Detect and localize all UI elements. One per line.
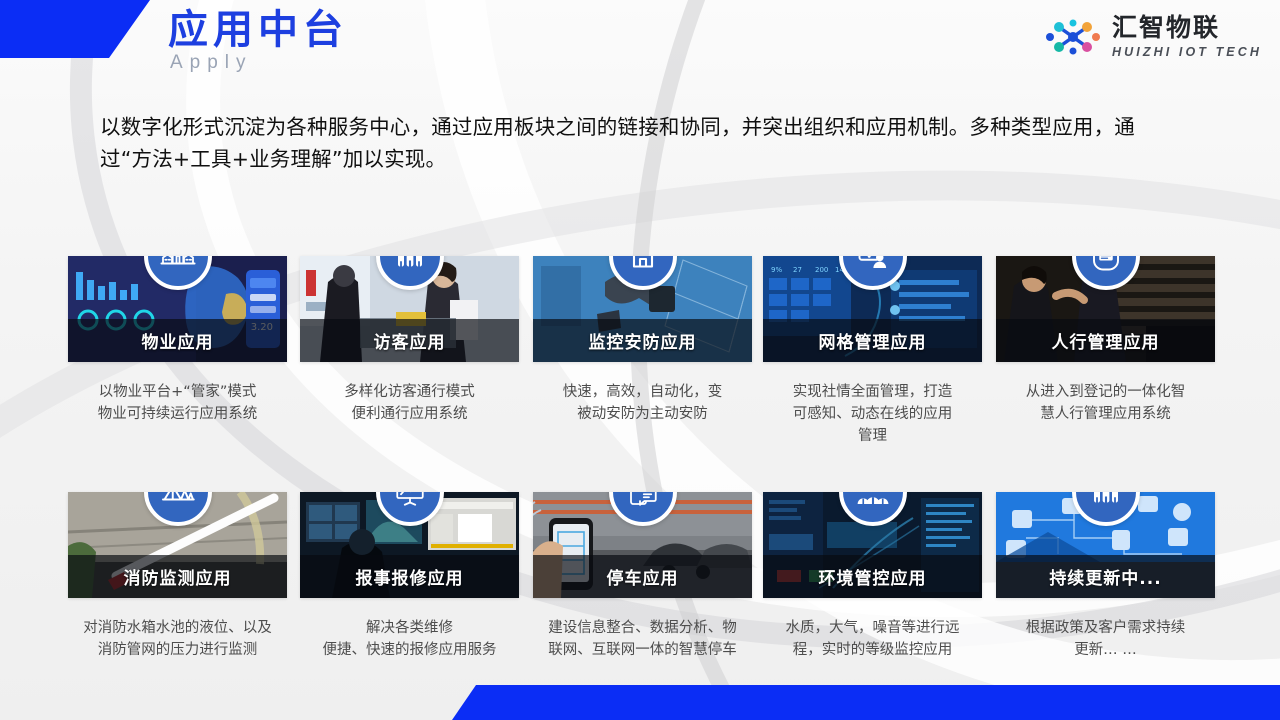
application-card[interactable]: 停车应用 建设信息整合、数据分析、物 联网、互联网一体的智慧停车 <box>533 492 752 661</box>
card-label: 持续更新中... <box>996 564 1215 589</box>
application-card[interactable]: 3.20 物业应用 以物业平台+“管家”模式 物业可持续运行应用系统 <box>68 256 287 425</box>
application-card[interactable]: 持续更新中... 根据政策及客户需求持续 更新… … <box>996 492 1215 661</box>
card-caption: 实现社情全面管理，打造 可感知、动态在线的应用 管理 <box>763 381 982 447</box>
card-caption: 快速，高效，自动化，变 被动安防为主动安防 <box>533 381 752 425</box>
card-label: 访客应用 <box>300 328 519 353</box>
card-thumbnail[interactable]: 3.20 物业应用 <box>68 256 287 362</box>
card-label: 网格管理应用 <box>763 328 982 353</box>
card-label: 人行管理应用 <box>996 328 1215 353</box>
card-caption: 从进入到登记的一体化智 慧人行管理应用系统 <box>996 381 1215 425</box>
application-card[interactable]: 环境管控应用 水质，大气，噪音等进行远 程，实时的等级监控应用 <box>763 492 982 661</box>
application-card[interactable]: 访客应用 多样化访客通行模式 便利通行应用系统 <box>300 256 519 425</box>
card-caption: 以物业平台+“管家”模式 物业可持续运行应用系统 <box>68 381 287 425</box>
card-caption: 根据政策及客户需求持续 更新… … <box>996 617 1215 661</box>
svg-text:200: 200 <box>815 266 828 274</box>
card-thumbnail[interactable]: 人行管理应用 <box>996 256 1215 362</box>
application-card[interactable]: 监控安防应用 快速，高效，自动化，变 被动安防为主动安防 <box>533 256 752 425</box>
application-card[interactable]: 人行管理应用 从进入到登记的一体化智 慧人行管理应用系统 <box>996 256 1215 425</box>
slide-canvas: 应用中台 Apply <box>0 0 1280 720</box>
card-label: 停车应用 <box>533 564 752 589</box>
card-caption: 水质，大气，噪音等进行远 程，实时的等级监控应用 <box>763 617 982 661</box>
card-caption: 解决各类维修 便捷、快速的报修应用服务 <box>300 617 519 661</box>
card-label: 报事报修应用 <box>300 564 519 589</box>
card-thumbnail[interactable]: 访客应用 <box>300 256 519 362</box>
card-caption: 建设信息整合、数据分析、物 联网、互联网一体的智慧停车 <box>533 617 752 661</box>
svg-text:27: 27 <box>793 266 802 274</box>
application-card-grid: 3.20 物业应用 以物业平台+“管家”模式 物业可持续运行应用系统 <box>0 0 1280 720</box>
application-card[interactable]: 报事报修应用 解决各类维修 便捷、快速的报修应用服务 <box>300 492 519 661</box>
card-label: 物业应用 <box>68 328 287 353</box>
card-thumbnail[interactable]: 报事报修应用 <box>300 492 519 598</box>
card-thumbnail[interactable]: 停车应用 <box>533 492 752 598</box>
card-thumbnail[interactable]: 监控安防应用 <box>533 256 752 362</box>
card-label: 监控安防应用 <box>533 328 752 353</box>
card-thumbnail[interactable]: 消防监测应用 <box>68 492 287 598</box>
application-card[interactable]: 9%27200148 网格管理应用 $ 实现社情全面管理，打造 可感知、动态在线… <box>763 256 982 447</box>
card-label: 环境管控应用 <box>763 564 982 589</box>
card-label: 消防监测应用 <box>68 564 287 589</box>
card-thumbnail[interactable]: 9%27200148 网格管理应用 $ <box>763 256 982 362</box>
card-thumbnail[interactable]: 环境管控应用 <box>763 492 982 598</box>
card-thumbnail[interactable]: 持续更新中... <box>996 492 1215 598</box>
card-caption: 对消防水箱水池的液位、以及 消防管网的压力进行监测 <box>68 617 287 661</box>
card-caption: 多样化访客通行模式 便利通行应用系统 <box>300 381 519 425</box>
svg-text:$: $ <box>866 256 871 258</box>
application-card[interactable]: 消防监测应用 对消防水箱水池的液位、以及 消防管网的压力进行监测 <box>68 492 287 661</box>
svg-text:9%: 9% <box>771 266 782 274</box>
